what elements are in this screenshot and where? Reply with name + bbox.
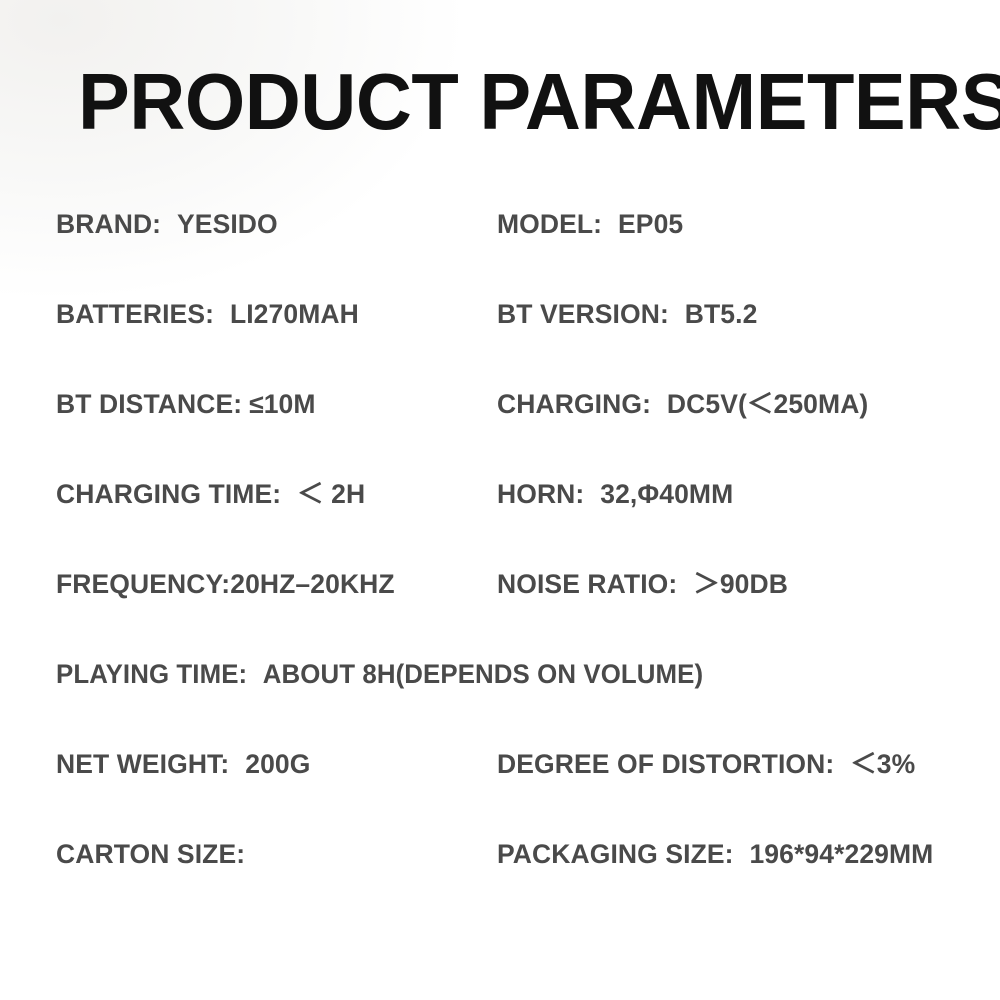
parameter-label: DEGREE OF DISTORTION: [497, 749, 834, 779]
parameter-row: CARTON SIZE:PACKAGING SIZE:196*94*229MM [0, 836, 1000, 926]
parameter-playing-time: PLAYING TIME:ABOUT 8H(DEPENDS ON VOLUME) [56, 656, 703, 692]
parameter-row: NET WEIGHT:200GDEGREE OF DISTORTION:＜3% [0, 746, 1000, 836]
parameter-charging: CHARGING:DC5V(＜250MA) [497, 386, 868, 422]
parameter-packaging-size: PACKAGING SIZE:196*94*229MM [497, 836, 933, 872]
parameter-bt-version: BT VERSION:BT5.2 [497, 296, 757, 332]
parameter-degree-of-distortion: DEGREE OF DISTORTION:＜3% [497, 746, 915, 782]
parameter-value: ＜ 2H [297, 479, 365, 509]
parameter-value: ＜3% [850, 749, 915, 779]
parameter-label: BT VERSION: [497, 299, 669, 329]
parameter-label: HORN: [497, 479, 584, 509]
parameter-bt-distance: BT DISTANCE:≤10M [56, 386, 316, 422]
parameter-value: ＞90DB [693, 569, 788, 599]
parameter-value: 196*94*229MM [749, 839, 933, 869]
parameter-value: ≤10M [249, 389, 316, 419]
parameter-value: LI270MAH [230, 299, 359, 329]
parameter-label: BT DISTANCE: [56, 389, 242, 419]
parameter-label: PACKAGING SIZE: [497, 839, 734, 869]
parameter-row: BATTERIES:LI270MAHBT VERSION:BT5.2 [0, 296, 1000, 386]
parameter-row: BRAND:YESIDOMODEL:EP05 [0, 206, 1000, 296]
parameter-label: FREQUENCY: [56, 569, 230, 599]
parameter-label: BATTERIES: [56, 299, 214, 329]
parameter-label: NOISE RATIO: [497, 569, 677, 599]
page-title: PRODUCT PARAMETERS [78, 62, 951, 142]
parameter-label: BRAND: [56, 209, 161, 239]
parameter-carton-size: CARTON SIZE: [56, 836, 245, 872]
parameter-horn: HORN:32,Φ40MM [497, 476, 733, 512]
parameter-value: EP05 [618, 209, 683, 239]
parameter-frequency: FREQUENCY:20HZ–20KHZ [56, 566, 395, 602]
parameter-noise-ratio: NOISE RATIO:＞90DB [497, 566, 788, 602]
parameter-row: CHARGING TIME:＜ 2HHORN:32,Φ40MM [0, 476, 1000, 566]
parameter-value: BT5.2 [685, 299, 758, 329]
parameter-net-weight: NET WEIGHT:200G [56, 746, 310, 782]
parameter-label: NET WEIGHT: [56, 749, 229, 779]
parameter-brand: BRAND:YESIDO [56, 206, 278, 242]
parameter-value: ABOUT 8H(DEPENDS ON VOLUME) [263, 659, 703, 689]
parameter-model: MODEL:EP05 [497, 206, 683, 242]
parameter-label: CHARGING TIME: [56, 479, 281, 509]
parameter-value: 20HZ–20KHZ [230, 569, 394, 599]
parameter-row: BT DISTANCE:≤10MCHARGING:DC5V(＜250MA) [0, 386, 1000, 476]
parameter-value: DC5V(＜250MA) [667, 389, 868, 419]
parameter-value: YESIDO [177, 209, 278, 239]
parameter-row: PLAYING TIME:ABOUT 8H(DEPENDS ON VOLUME) [0, 656, 1000, 746]
parameter-batteries: BATTERIES:LI270MAH [56, 296, 359, 332]
parameter-charging-time: CHARGING TIME:＜ 2H [56, 476, 365, 512]
parameter-label: CARTON SIZE: [56, 839, 245, 869]
parameter-label: CHARGING: [497, 389, 651, 419]
parameter-row: FREQUENCY:20HZ–20KHZNOISE RATIO:＞90DB [0, 566, 1000, 656]
parameter-value: 200G [245, 749, 310, 779]
parameter-label: MODEL: [497, 209, 602, 239]
parameter-label: PLAYING TIME: [56, 659, 247, 689]
parameter-grid: BRAND:YESIDOMODEL:EP05BATTERIES:LI270MAH… [0, 206, 1000, 926]
parameter-value: 32,Φ40MM [600, 479, 733, 509]
product-parameters-sheet: PRODUCT PARAMETERS BRAND:YESIDOMODEL:EP0… [0, 0, 1000, 1000]
